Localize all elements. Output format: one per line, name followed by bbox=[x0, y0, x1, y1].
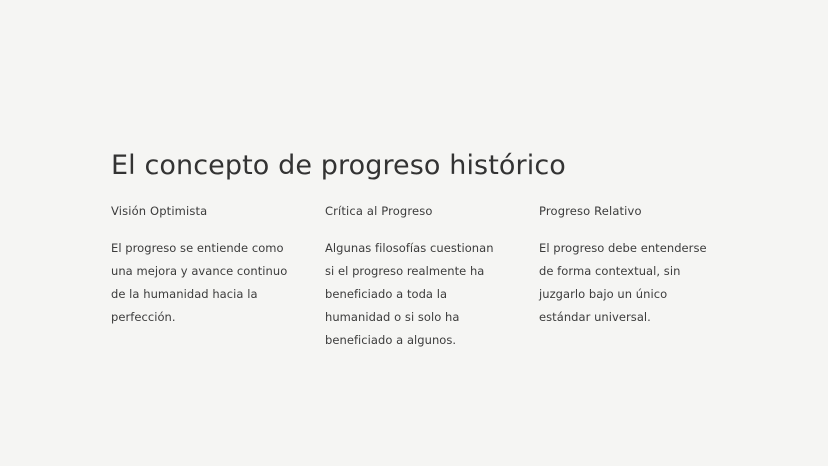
page-title: El concepto de progreso histórico bbox=[111, 149, 566, 183]
slide-canvas: El concepto de progreso histórico Visión… bbox=[0, 0, 828, 466]
column-progreso-relativo: Progreso Relativo El progreso debe enten… bbox=[539, 203, 720, 329]
column-heading: Progreso Relativo bbox=[539, 203, 720, 219]
column-heading: Visión Optimista bbox=[111, 203, 292, 219]
column-body-text: El progreso debe entenderse de forma con… bbox=[539, 237, 720, 329]
columns-container: Visión Optimista El progreso se entiende… bbox=[111, 203, 751, 352]
column-vision-optimista: Visión Optimista El progreso se entiende… bbox=[111, 203, 292, 329]
column-critica-al-progreso: Crítica al Progreso Algunas filosofías c… bbox=[325, 203, 506, 352]
column-body-text: Algunas filosofías cuestionan si el prog… bbox=[325, 237, 506, 352]
column-body-text: El progreso se entiende como una mejora … bbox=[111, 237, 292, 329]
column-heading: Crítica al Progreso bbox=[325, 203, 506, 219]
